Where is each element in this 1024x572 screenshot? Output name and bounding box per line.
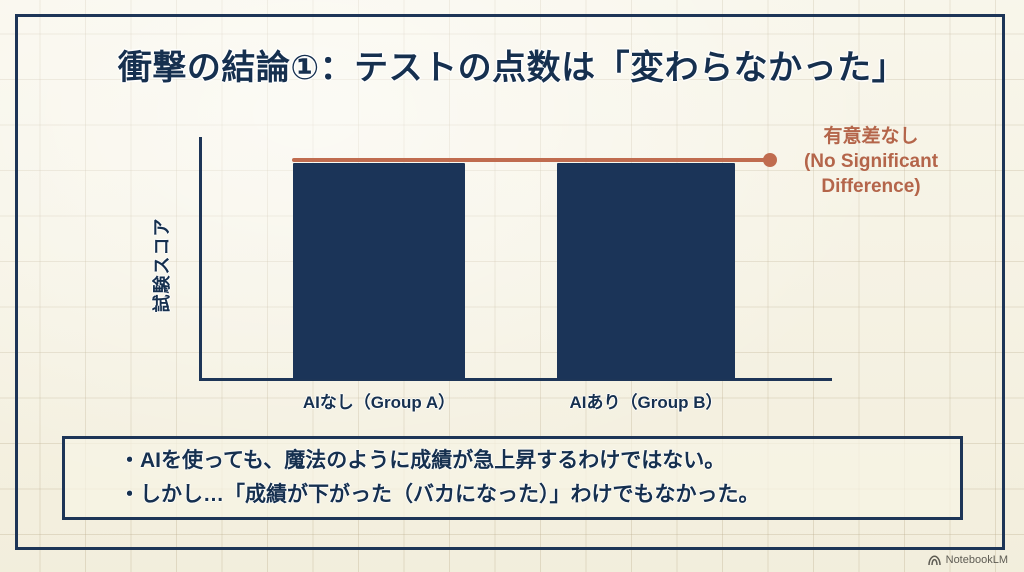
y-axis-label: 試験スコア: [148, 195, 174, 335]
significance-annotation-line-3: Difference): [773, 174, 969, 199]
page-title: 衝撃の結論①：テストの点数は「変わらなかった」: [0, 40, 1024, 89]
slide-canvas: 衝撃の結論①：テストの点数は「変わらなかった」 試験スコア AIなし（Group…: [0, 0, 1024, 572]
x-axis-label-group-a: AIなし（Group A）: [279, 388, 479, 413]
bar-group-b: [557, 163, 735, 379]
significance-annotation-line-2: (No Significant: [773, 149, 969, 174]
watermark: NotebookLM: [928, 554, 1008, 566]
significance-annotation-line-1: 有意差なし: [773, 124, 969, 149]
significance-annotation: 有意差なし (No Significant Difference): [773, 124, 969, 199]
notebooklm-icon: [928, 555, 941, 566]
takeaway-callout-box: ・AIを使っても、魔法のように成績が急上昇するわけではない。 ・しかし…「成績が…: [62, 436, 963, 520]
takeaway-bullet-2: ・しかし…「成績が下がった（バカになった）」わけでもなかった。: [119, 478, 960, 512]
y-axis-line: [199, 137, 202, 380]
x-axis-label-group-b: AIあり（Group B）: [546, 388, 746, 413]
watermark-label: NotebookLM: [946, 554, 1008, 566]
bar-group-a: [293, 163, 465, 379]
takeaway-bullet-1: ・AIを使っても、魔法のように成績が急上昇するわけではない。: [119, 444, 960, 478]
significance-bracket-line: [292, 158, 769, 162]
